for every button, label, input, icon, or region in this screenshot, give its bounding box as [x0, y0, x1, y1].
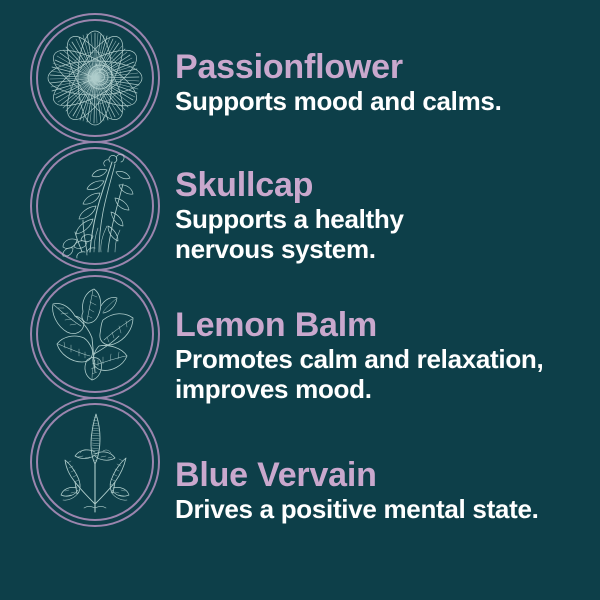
- blue-vervain-illustration-icon: [29, 396, 161, 528]
- ingredient-benefit: Supports a healthy nervous system.: [175, 205, 590, 264]
- ingredient-name: Passionflower: [175, 50, 590, 85]
- ingredient-copy: Lemon Balm Promotes calm and relaxation,…: [161, 268, 600, 405]
- ingredient-copy: Passionflower Supports mood and calms.: [161, 12, 600, 117]
- ingredient-row: Skullcap Supports a healthy nervous syst…: [0, 140, 600, 272]
- ingredient-benefit: Drives a positive mental state.: [175, 495, 590, 525]
- ingredient-copy: Blue Vervain Drives a positive mental st…: [161, 396, 600, 525]
- lemon-balm-drawing: [37, 276, 153, 392]
- passionflower-illustration-icon: [29, 12, 161, 144]
- ingredient-name: Blue Vervain: [175, 458, 590, 493]
- ingredient-benefit: Supports mood and calms.: [175, 87, 590, 117]
- ingredient-name: Skullcap: [175, 168, 590, 203]
- ingredient-copy: Skullcap Supports a healthy nervous syst…: [161, 140, 600, 265]
- skullcap-illustration-icon: [29, 140, 161, 272]
- ingredient-row: Blue Vervain Drives a positive mental st…: [0, 396, 600, 528]
- ingredient-row: Lemon Balm Promotes calm and relaxation,…: [0, 268, 600, 405]
- lemon-balm-illustration-icon: [29, 268, 161, 400]
- ingredient-row: Passionflower Supports mood and calms.: [0, 12, 600, 144]
- ingredient-name: Lemon Balm: [175, 308, 590, 343]
- passionflower-drawing: [37, 20, 153, 136]
- ingredient-benefits-panel: Passionflower Supports mood and calms.: [0, 0, 600, 600]
- skullcap-drawing: [37, 148, 153, 264]
- blue-vervain-drawing: [37, 404, 153, 520]
